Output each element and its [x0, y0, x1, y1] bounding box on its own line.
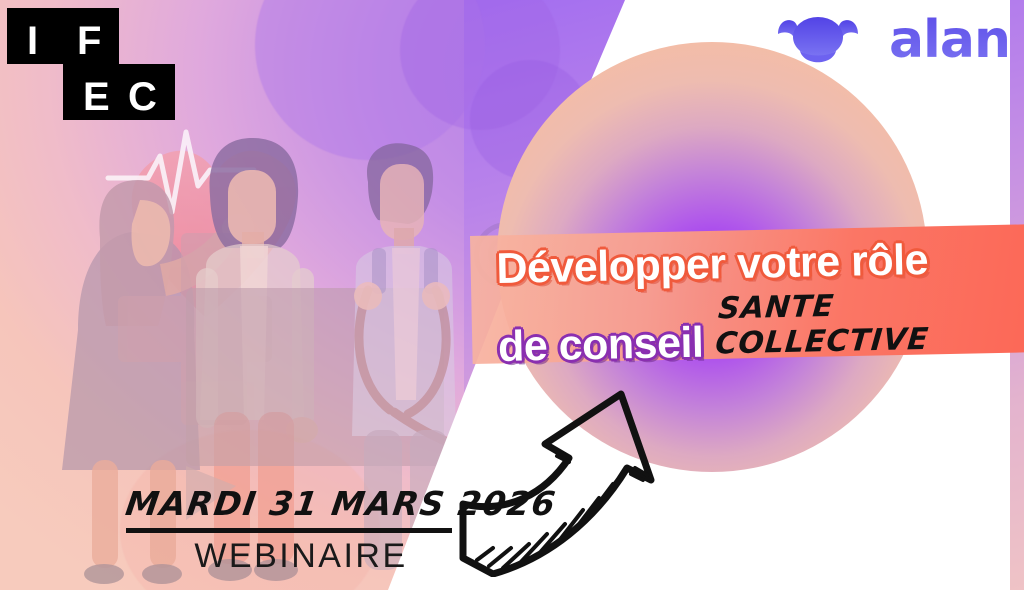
headline-line-1: Développer votre rôle [496, 237, 1024, 291]
headline-line-2: de conseil [498, 322, 704, 369]
ifec-logo-box-top [7, 8, 119, 64]
curved-arrow-doodle-icon [445, 382, 675, 577]
ifec-logo-box-bottom [63, 64, 175, 120]
ifec-letter-i: I [27, 21, 38, 61]
alan-koala-mark-icon [770, 12, 866, 70]
event-format-label: WEBINAIRE [126, 537, 476, 576]
alan-logo[interactable]: alan [770, 8, 1010, 70]
ifec-letter-f: F [77, 21, 101, 61]
date-underline-rule [126, 528, 452, 533]
event-date-block: MARDI 31 MARS 2026 WEBINAIRE [126, 484, 476, 576]
promo-banner: Développer votre rôle de conseil SANTE C… [0, 0, 1024, 590]
ifec-letter-e: E [83, 77, 110, 117]
headline-row-2: de conseil SANTE COLLECTIVE [497, 285, 1024, 369]
event-date: MARDI 31 MARS 2026 [123, 484, 478, 523]
headline-subtitle: SANTE COLLECTIVE [714, 285, 1024, 365]
alan-wordmark: alan [889, 10, 1010, 70]
ifec-letter-c: C [128, 77, 157, 117]
headline-group: Développer votre rôle de conseil SANTE C… [496, 237, 1024, 358]
ifec-logo[interactable]: I F E C [0, 0, 190, 125]
